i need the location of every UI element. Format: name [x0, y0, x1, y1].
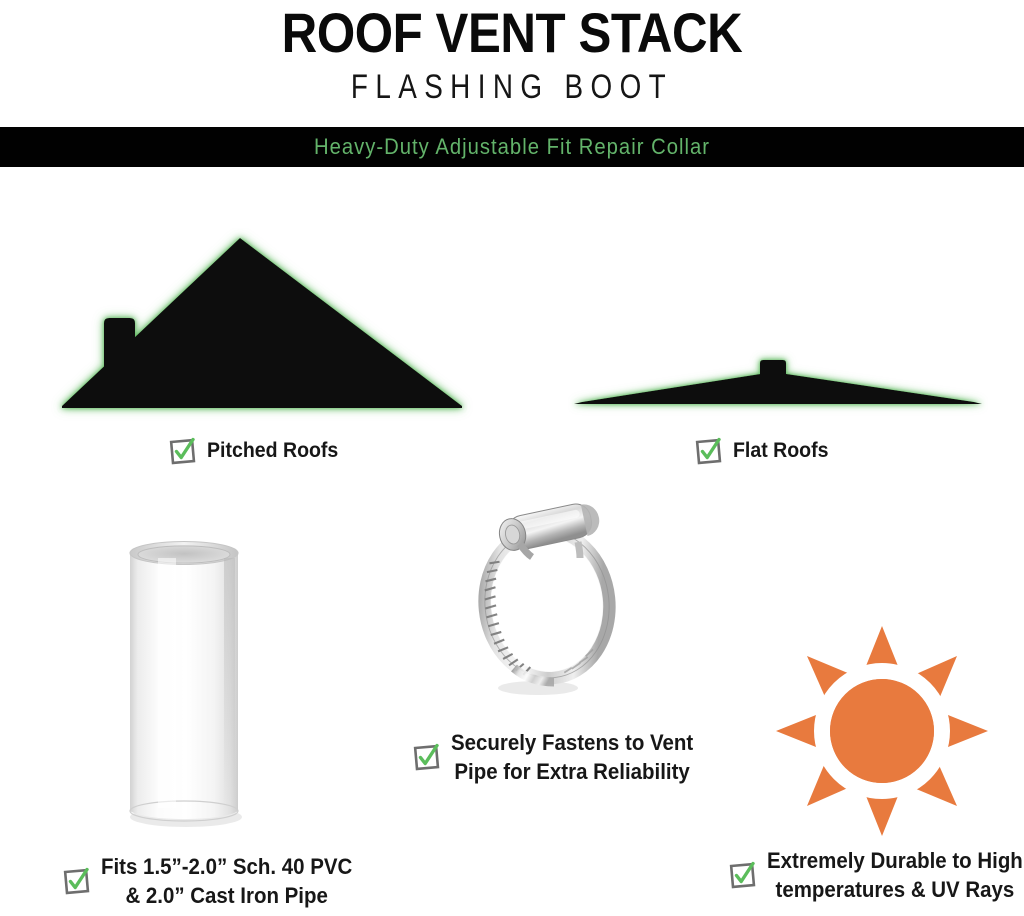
- checkmark-icon: [694, 436, 724, 466]
- feature-label: Flat Roofs: [733, 439, 828, 463]
- feature-label-line2: Pipe for Extra Reliability: [451, 757, 693, 786]
- feature-label-line1: Fits 1.5”-2.0” Sch. 40 PVC: [101, 852, 352, 881]
- feature-label-line2: & 2.0” Cast Iron Pipe: [101, 881, 352, 910]
- feature-label-line1: Securely Fastens to Vent: [451, 728, 693, 757]
- page-title: ROOF VENT STACK: [61, 4, 962, 62]
- feature-label: Pitched Roofs: [207, 439, 338, 463]
- flat-roof-icon: [568, 350, 988, 424]
- feature-label-line1: Extremely Durable to High: [767, 846, 1023, 875]
- pitched-roof-icon: [48, 228, 520, 424]
- hose-clamp-image: [452, 492, 642, 704]
- feature-pipe-fit: Fits 1.5”-2.0” Sch. 40 PVC & 2.0” Cast I…: [62, 852, 371, 910]
- pvc-pipe-image: [124, 536, 244, 828]
- feature-label-line2: temperatures & UV Rays: [767, 875, 1023, 904]
- feature-label: Securely Fastens to Vent Pipe for Extra …: [451, 728, 693, 786]
- tagline-text: Heavy-Duty Adjustable Fit Repair Collar: [41, 127, 983, 167]
- feature-uv-durability: Extremely Durable to High temperatures &…: [728, 846, 1024, 904]
- page-subtitle: FLASHING BOOT: [92, 68, 932, 106]
- checkmark-icon: [168, 436, 198, 466]
- tagline-band: Heavy-Duty Adjustable Fit Repair Collar: [0, 127, 1024, 167]
- feature-pitched-roofs: Pitched Roofs: [168, 436, 348, 466]
- feature-label: Extremely Durable to High temperatures &…: [767, 846, 1023, 904]
- sun-icon: [774, 624, 990, 838]
- checkmark-icon: [62, 866, 92, 896]
- checkmark-icon: [728, 860, 758, 890]
- product-infographic: ROOF VENT STACK FLASHING BOOT Heavy-Duty…: [0, 0, 1024, 916]
- checkmark-icon: [412, 742, 442, 772]
- feature-flat-roofs: Flat Roofs: [694, 436, 836, 466]
- feature-label: Fits 1.5”-2.0” Sch. 40 PVC & 2.0” Cast I…: [101, 852, 352, 910]
- feature-clamp: Securely Fastens to Vent Pipe for Extra …: [412, 728, 711, 786]
